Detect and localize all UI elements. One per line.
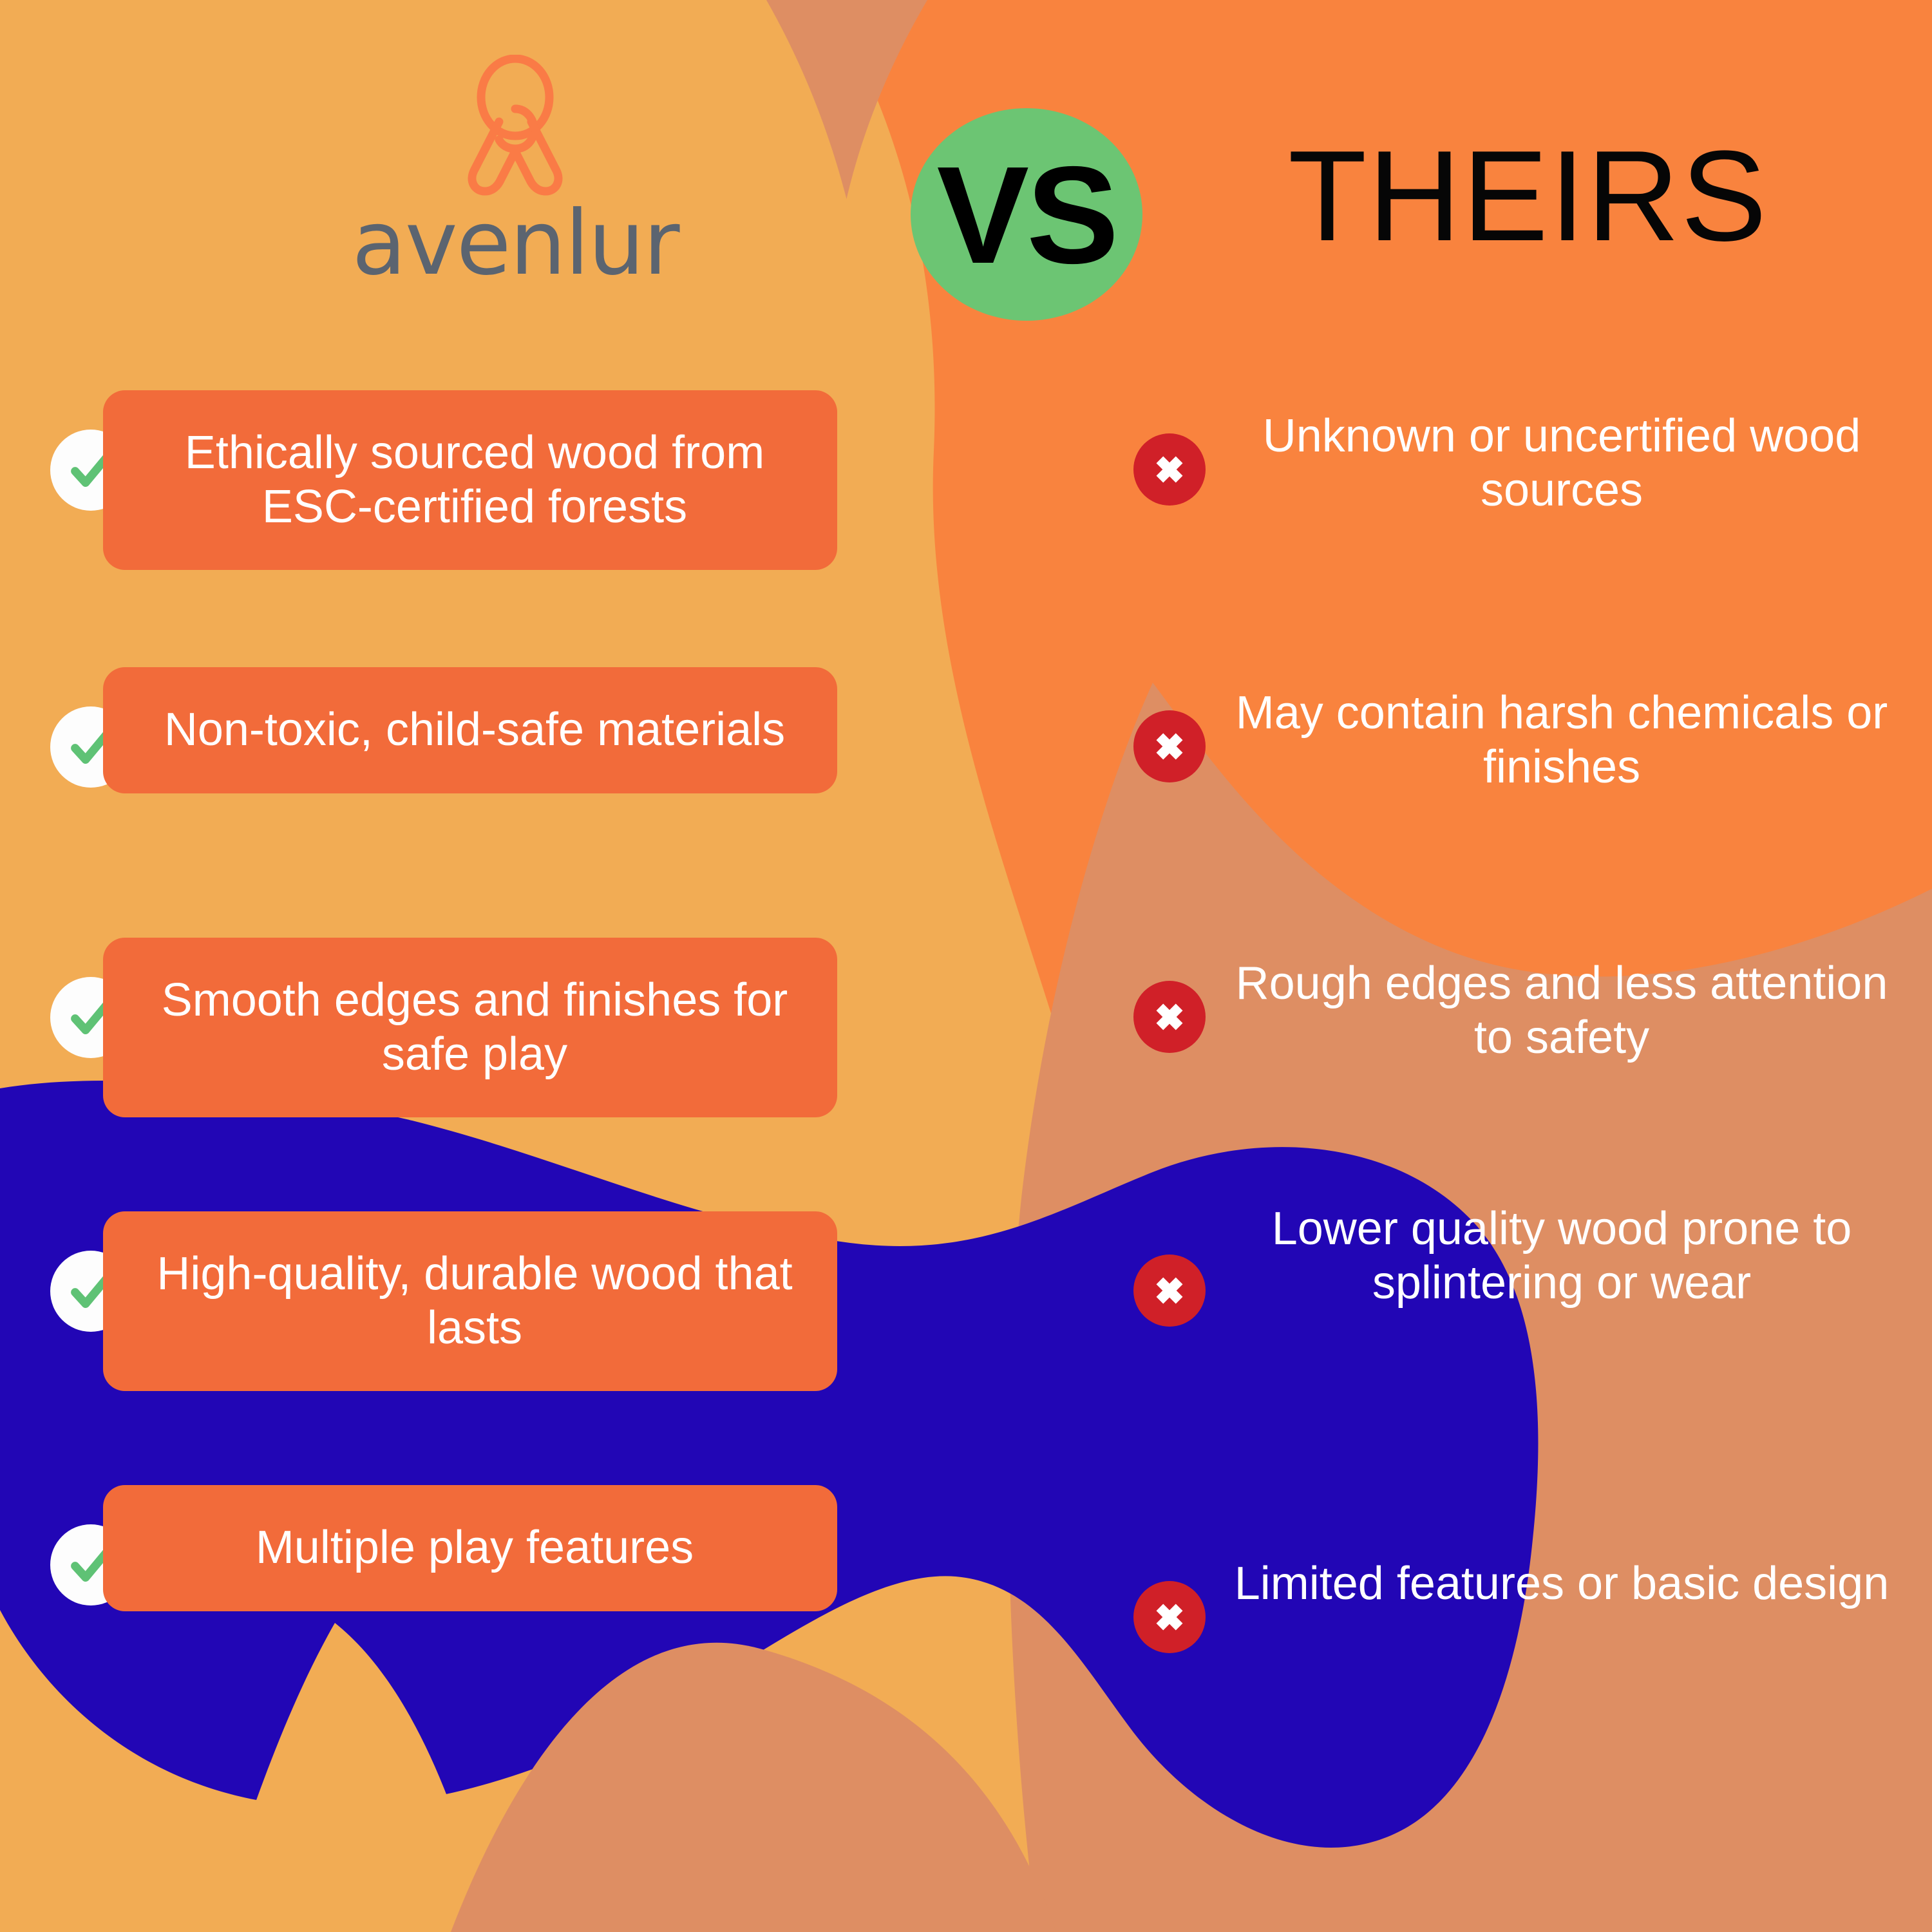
ours-item: Multiple play features xyxy=(0,1462,1005,1668)
ours-pill: Non-toxic, child-safe materials xyxy=(103,667,837,793)
ours-pill: High-quality, durable wood that lasts xyxy=(103,1211,837,1391)
theirs-item: Limited features or basic design xyxy=(1069,1462,1932,1668)
ours-item: High-quality, durable wood that lasts xyxy=(0,1188,1005,1394)
cross-icon xyxy=(1133,1581,1206,1653)
comparison-row: Non-toxic, child-safe materials May cont… xyxy=(0,644,1932,850)
ours-pill: Ethically sourced wood from ESC-certifie… xyxy=(103,390,837,570)
cross-icon xyxy=(1133,433,1206,506)
comparison-row: Smooth edges and finishes for safe play … xyxy=(0,914,1932,1121)
ours-item: Ethically sourced wood from ESC-certifie… xyxy=(0,367,1005,573)
comparison-row: Multiple play features Limited features … xyxy=(0,1462,1932,1668)
theirs-text: Limited features or basic design xyxy=(1230,1557,1893,1611)
theirs-item: May contain harsh chemicals or finishes xyxy=(1069,644,1932,850)
ours-text: Non-toxic, child-safe materials xyxy=(138,703,811,757)
theirs-text: Lower quality wood prone to splintering … xyxy=(1230,1202,1893,1310)
theirs-item: Rough edges and less attention to safety xyxy=(1069,914,1932,1121)
cross-icon xyxy=(1133,710,1206,782)
cross-icon xyxy=(1133,1255,1206,1327)
infographic-canvas: avenlur VS THEIRS Ethically sourced wood… xyxy=(0,0,1932,1932)
ours-pill: Smooth edges and finishes for safe play xyxy=(103,938,837,1117)
theirs-item: Lower quality wood prone to splintering … xyxy=(1069,1188,1932,1394)
ours-text: Smooth edges and finishes for safe play xyxy=(138,974,811,1081)
theirs-item: Unknown or uncertified wood sources xyxy=(1069,367,1932,573)
comparison-row: High-quality, durable wood that lasts Lo… xyxy=(0,1188,1932,1394)
cross-icon xyxy=(1133,981,1206,1053)
ours-text: High-quality, durable wood that lasts xyxy=(138,1247,811,1355)
ours-text: Multiple play features xyxy=(138,1521,811,1575)
comparison-row: Ethically sourced wood from ESC-certifie… xyxy=(0,367,1932,573)
theirs-text: Rough edges and less attention to safety xyxy=(1230,957,1893,1065)
ours-item: Non-toxic, child-safe materials xyxy=(0,644,1005,850)
comparison-rows: Ethically sourced wood from ESC-certifie… xyxy=(0,0,1932,1932)
theirs-text: Unknown or uncertified wood sources xyxy=(1230,410,1893,517)
ours-pill: Multiple play features xyxy=(103,1485,837,1611)
ours-item: Smooth edges and finishes for safe play xyxy=(0,914,1005,1121)
ours-text: Ethically sourced wood from ESC-certifie… xyxy=(138,426,811,534)
theirs-text: May contain harsh chemicals or finishes xyxy=(1230,687,1893,794)
